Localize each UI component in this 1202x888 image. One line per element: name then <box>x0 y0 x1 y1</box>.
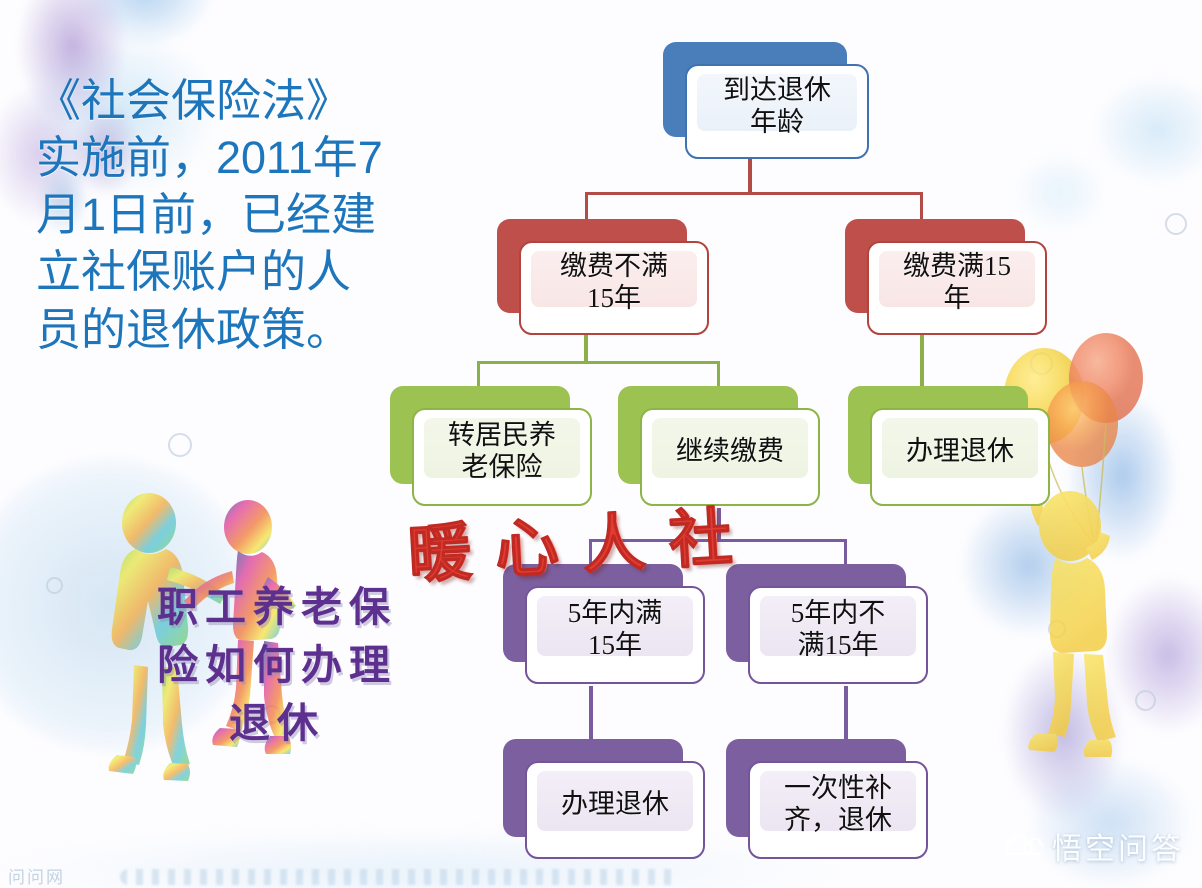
node-label-line1: 缴费满15 <box>903 251 1011 281</box>
node-label: 缴费满15年 <box>867 241 1047 335</box>
headline-text: 《社会保险法》 实施前，2011年7 月1日前，已经建 立社保账户的人 员的退休… <box>36 72 456 358</box>
connector-n1-to-n3 <box>920 192 923 220</box>
node-label-line1: 一次性补 <box>784 773 892 803</box>
connector-n1-split-vertical <box>748 155 752 195</box>
connector-n2-split-horizontal <box>477 361 720 364</box>
connector-n3-to-n6 <box>920 330 924 387</box>
connector-n2-to-n5 <box>717 361 720 387</box>
caption-line: 险如何办理 <box>92 636 462 694</box>
node-contribution-under-15[interactable]: 缴费不满15年 <box>497 219 687 313</box>
red-seal-watermark: 暖心人社 <box>406 485 759 595</box>
connector-n2-split-vertical <box>584 330 588 364</box>
node-not-reach-15-within-5-years[interactable]: 5年内不满15年 <box>726 564 906 662</box>
node-label-line1: 办理退休 <box>561 789 669 821</box>
node-label: 缴费不满15年 <box>519 241 709 335</box>
bottom-dotted-band <box>120 869 680 885</box>
node-process-retirement-purple[interactable]: 办理退休 <box>503 739 683 837</box>
connector-n1-to-n2 <box>585 192 588 220</box>
wukong-watermark: 悟空问答 <box>1005 824 1184 868</box>
node-label: 到达退休年龄 <box>685 64 869 159</box>
purple-caption: 职工养老保 险如何办理 退休 <box>92 578 462 753</box>
node-label-line2: 年龄 <box>750 107 804 137</box>
headline-line: 《社会保险法》 <box>36 72 456 129</box>
connector-n1-split-horizontal <box>585 192 923 195</box>
node-contribution-15-plus[interactable]: 缴费满15年 <box>845 219 1025 313</box>
caption-line: 职工养老保 <box>92 578 462 636</box>
node-label: 办理退休 <box>870 408 1050 506</box>
node-label-line1: 转居民养 <box>448 420 556 450</box>
corner-watermark: 问问网 <box>8 863 65 888</box>
headline-line: 员的退休政策。 <box>36 301 456 358</box>
wukong-watermark-text: 悟空问答 <box>1052 824 1184 868</box>
slide-canvas: 《社会保险法》 实施前，2011年7 月1日前，已经建 立社保账户的人 员的退休… <box>0 0 1202 888</box>
node-label-line1: 5年内不 <box>791 598 886 628</box>
node-retirement-age[interactable]: 到达退休年龄 <box>663 42 847 137</box>
node-label: 办理退休 <box>525 761 705 859</box>
connector-n5-to-n8 <box>844 539 847 565</box>
connector-n8-to-n10 <box>844 686 848 740</box>
caption-line: 退休 <box>92 694 462 752</box>
node-label-line2: 满15年 <box>798 630 879 660</box>
node-label-line2: 15年 <box>588 630 642 660</box>
node-label: 一次性补齐，退休 <box>748 761 928 859</box>
node-label-line1: 办理退休 <box>906 436 1014 468</box>
node-label-line2: 齐，退休 <box>784 805 892 835</box>
node-continue-paying[interactable]: 继续缴费 <box>618 386 798 484</box>
node-label-line2: 年 <box>944 283 971 313</box>
headline-line: 立社保账户的人 <box>36 243 456 300</box>
node-label-line2: 老保险 <box>462 452 543 482</box>
node-label: 5年内不满15年 <box>748 586 928 684</box>
node-label: 转居民养老保险 <box>412 408 592 506</box>
node-label-line1: 到达退休 <box>723 75 831 105</box>
node-label: 5年内满15年 <box>525 586 705 684</box>
connector-n2-to-n4 <box>477 361 480 387</box>
node-process-retirement-green[interactable]: 办理退休 <box>848 386 1028 484</box>
node-label-line1: 5年内满 <box>568 598 663 628</box>
cloud-icon <box>1005 834 1043 858</box>
headline-line: 月1日前，已经建 <box>36 186 456 243</box>
connector-n7-to-n9 <box>589 686 593 740</box>
node-label-line1: 继续缴费 <box>676 436 784 468</box>
node-transfer-to-resident-pension[interactable]: 转居民养老保险 <box>390 386 570 484</box>
node-label-line2: 15年 <box>587 283 641 313</box>
headline-line: 实施前，2011年7 <box>36 129 456 186</box>
node-label-line1: 缴费不满 <box>560 251 668 281</box>
node-lump-sum-then-retire[interactable]: 一次性补齐，退休 <box>726 739 906 837</box>
